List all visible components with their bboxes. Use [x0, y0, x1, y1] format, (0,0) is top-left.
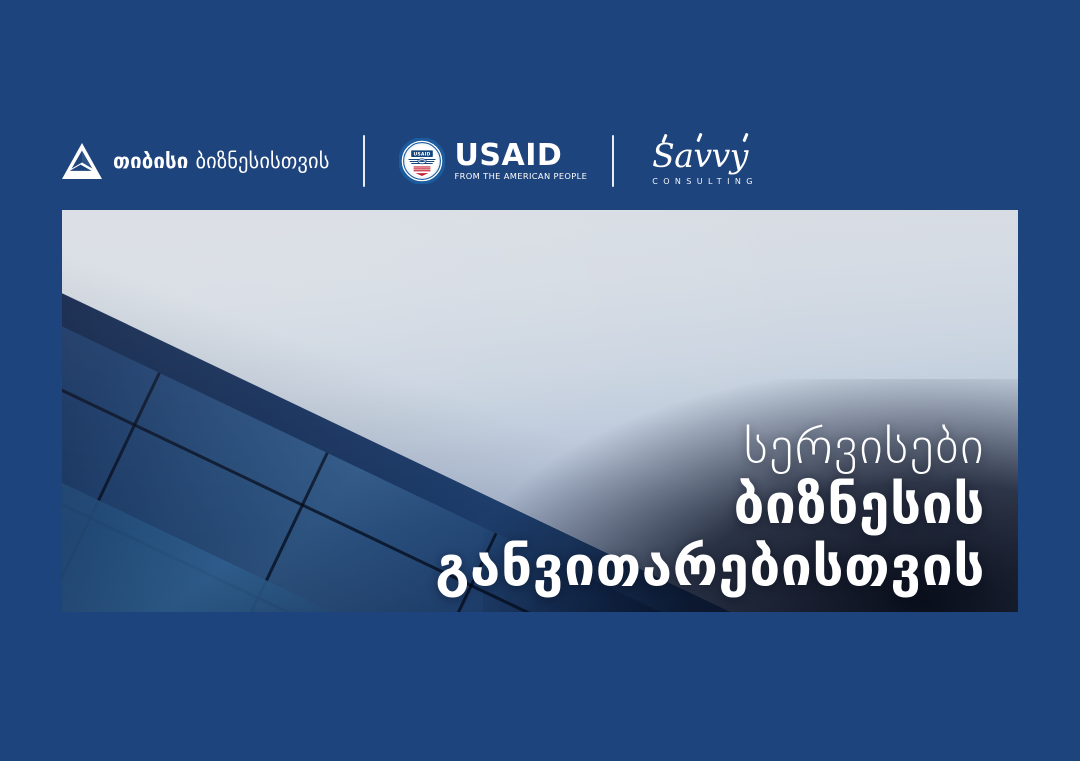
usaid-text-block: USAID FROM THE AMERICAN PEOPLE	[455, 142, 588, 181]
usaid-name: USAID	[455, 142, 588, 171]
usaid-logo-lockup[interactable]: USAID	[399, 126, 588, 196]
headline-line-2: ბიზნესის	[435, 474, 985, 536]
savvy-wordmark: Savvy	[652, 139, 748, 172]
headline-line-3: განვითარებისთვის	[435, 535, 985, 598]
savvy-logo-lockup[interactable]: Savvy CONSULTING	[642, 126, 758, 196]
tbc-logo-lockup[interactable]: თიბისი ბიზნესისთვის	[62, 126, 330, 196]
logo-divider-1	[363, 135, 365, 187]
headline-line-1: სერვისები	[435, 418, 985, 474]
tbc-wordmark: თიბისი ბიზნესისთვის	[113, 151, 330, 172]
hero-architecture-image: სერვისები ბიზნესის განვითარებისთვის	[62, 210, 1018, 612]
savvy-subtitle: CONSULTING	[647, 178, 758, 186]
tbc-triangle-logo-icon	[62, 143, 102, 179]
savvy-wordmark-text: Savvy	[652, 136, 748, 175]
hero-headline: სერვისები ბიზნესის განვითარებისთვის	[435, 418, 985, 598]
partner-logo-bar: თიბისი ბიზნესისთვის USAID	[62, 126, 752, 196]
tbc-word-bold: თიბისი	[113, 151, 188, 172]
tbc-word-regular: ბიზნესისთვის	[195, 151, 329, 172]
usaid-tagline: FROM THE AMERICAN PEOPLE	[455, 172, 588, 180]
poster-canvas: თიბისი ბიზნესისთვის USAID	[0, 0, 1080, 761]
usaid-seal-icon: USAID	[399, 138, 445, 184]
logo-divider-2	[612, 135, 614, 187]
svg-text:USAID: USAID	[413, 151, 430, 157]
